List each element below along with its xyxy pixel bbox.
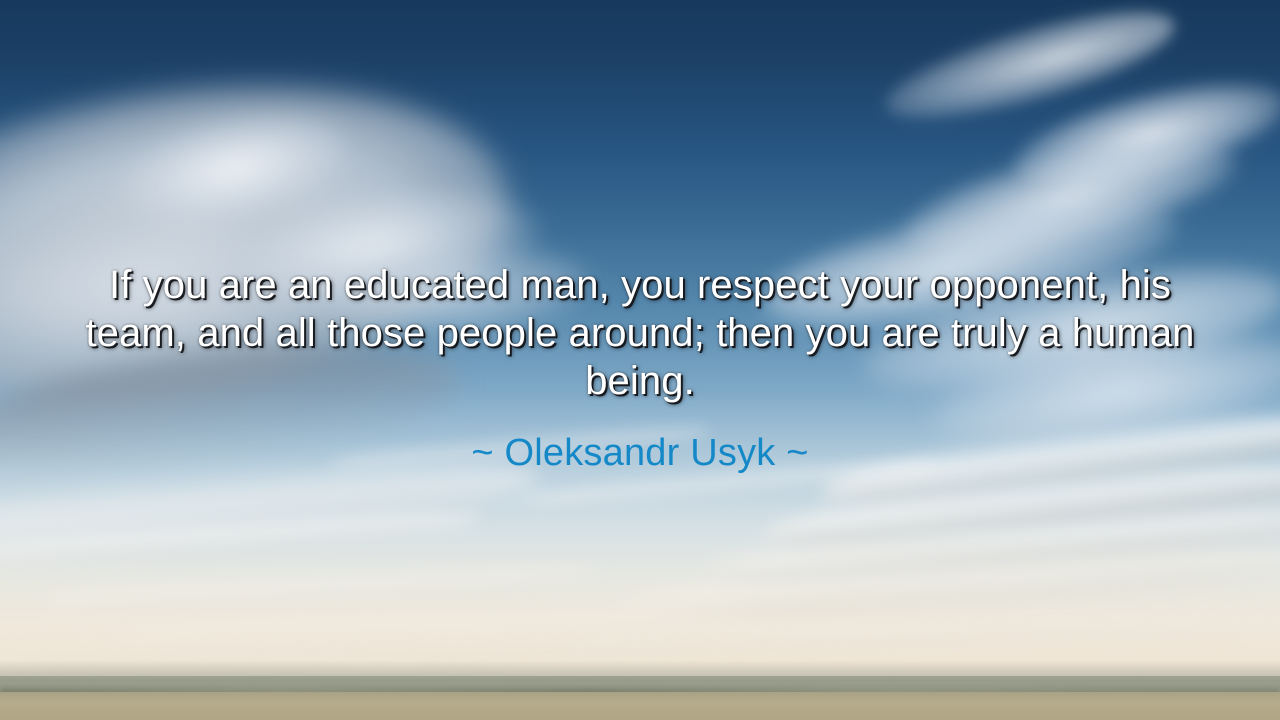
text-overlay: If you are an educated man, you respect … bbox=[0, 0, 1280, 720]
quote-wallpaper: If you are an educated man, you respect … bbox=[0, 0, 1280, 720]
quote-attribution: ~ Oleksandr Usyk ~ bbox=[471, 431, 808, 475]
quote-text: If you are an educated man, you respect … bbox=[75, 261, 1205, 405]
